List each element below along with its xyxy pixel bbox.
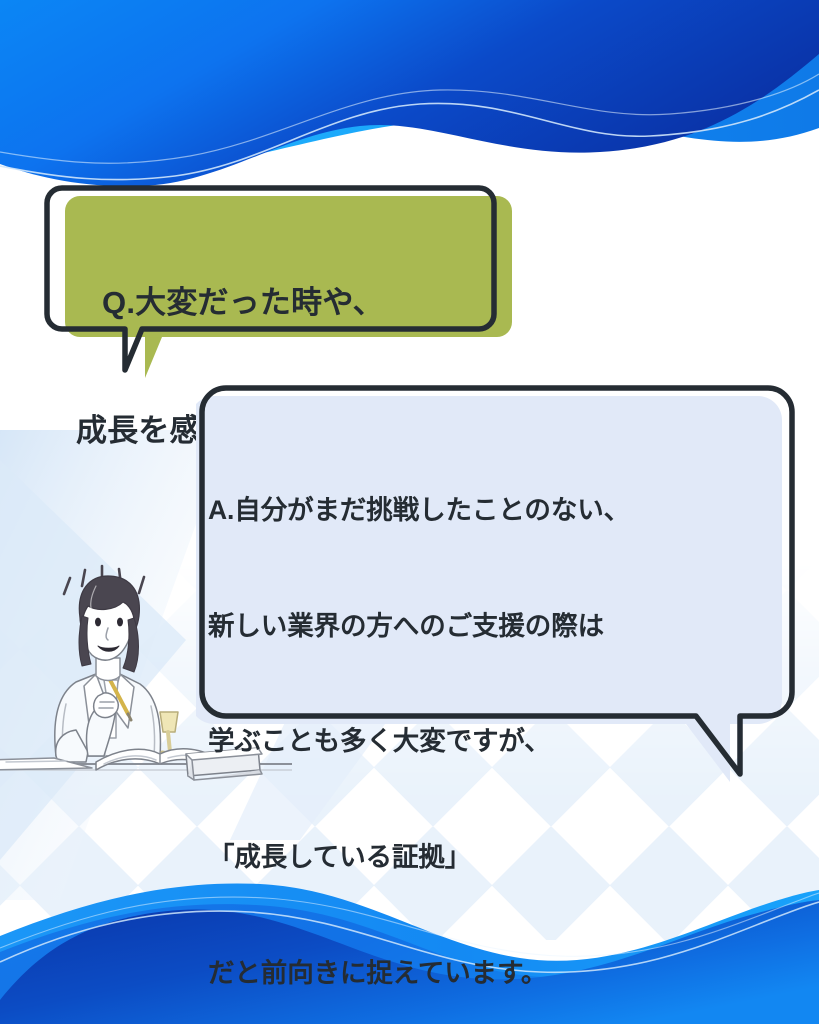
drink-glass-icon bbox=[160, 712, 178, 754]
question-line-1: Q.大変だった時や、 bbox=[66, 282, 506, 325]
answer-text: A.自分がまだ挑戦したことのない、 新しい業界の方へのご支援の際は 学ぶことも多… bbox=[208, 414, 788, 1024]
answer-line-2: 新しい業界の方へのご支援の際は bbox=[208, 607, 788, 646]
answer-line-3: 学ぶことも多く大変ですが、 bbox=[208, 722, 788, 761]
answer-line-1: A.自分がまだ挑戦したことのない、 bbox=[208, 491, 788, 530]
answer-line-5: だと前向きに捉えています。 bbox=[208, 954, 788, 993]
poster-canvas: Q.大変だった時や、 成長を感じた瞬間は？ A.自分がまだ挑戦したことのない、 … bbox=[0, 0, 819, 1024]
answer-line-4: 「成長している証拠」 bbox=[208, 838, 788, 877]
